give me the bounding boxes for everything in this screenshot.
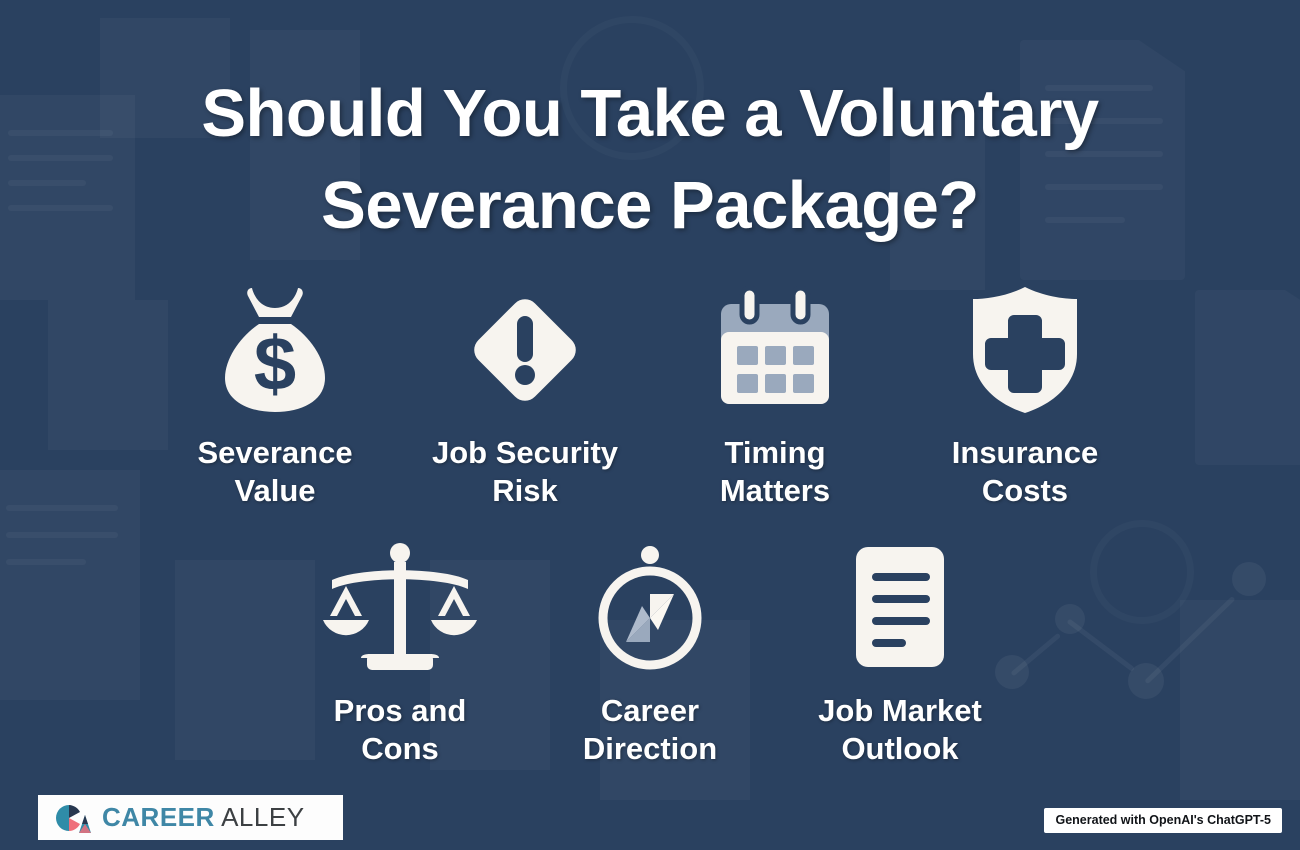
title-line-1: Should You Take a Voluntary	[0, 68, 1300, 160]
logo-word-alley: ALLEY	[215, 802, 305, 832]
topic-row-second: Pros and Cons Career Direction	[0, 538, 1300, 768]
topic-label-line1: Job Market	[818, 692, 982, 730]
career-alley-logo[interactable]: CAREER ALLEY	[38, 795, 343, 840]
topic-item-job-security-risk[interactable]: Job Security Risk	[400, 280, 650, 510]
topic-row-first: $ Severance Value Job Security Risk	[0, 280, 1300, 510]
title-line-2: Severance Package?	[0, 160, 1300, 252]
topic-label-line1: Timing	[720, 434, 830, 472]
topic-label-line2: Value	[197, 472, 352, 510]
svg-text:$: $	[254, 322, 296, 407]
document-lines-icon	[852, 538, 948, 678]
topic-label-line1: Severance	[197, 434, 352, 472]
topic-label-line1: Career	[583, 692, 717, 730]
topic-label-line2: Cons	[334, 730, 467, 768]
topic-label-line2: Outlook	[818, 730, 982, 768]
logo-word-career: CAREER	[102, 802, 215, 832]
topic-item-job-market-outlook[interactable]: Job Market Outlook	[775, 538, 1025, 768]
topic-label: Career Direction	[583, 692, 717, 768]
topic-item-insurance-costs[interactable]: Insurance Costs	[900, 280, 1150, 510]
topic-item-pros-and-cons[interactable]: Pros and Cons	[275, 538, 525, 768]
topic-label-line2: Costs	[952, 472, 1098, 510]
topic-item-timing-matters[interactable]: Timing Matters	[650, 280, 900, 510]
topic-label-line2: Risk	[432, 472, 618, 510]
topic-label: Timing Matters	[720, 434, 830, 510]
generated-with-badge: Generated with OpenAI's ChatGPT-5	[1044, 808, 1282, 833]
balance-scales-icon	[320, 538, 480, 678]
topic-label-line2: Matters	[720, 472, 830, 510]
topic-label-line1: Pros and	[334, 692, 467, 730]
career-alley-mark-icon	[52, 802, 94, 834]
infographic-canvas: Should You Take a Voluntary Severance Pa…	[0, 0, 1300, 850]
topic-label: Insurance Costs	[952, 434, 1098, 510]
topic-item-severance-value[interactable]: $ Severance Value	[150, 280, 400, 510]
page-title: Should You Take a Voluntary Severance Pa…	[0, 68, 1300, 252]
topic-label-line1: Job Security	[432, 434, 618, 472]
compass-icon	[588, 538, 712, 678]
topic-label: Job Market Outlook	[818, 692, 982, 768]
topic-label-line1: Insurance	[952, 434, 1098, 472]
topic-label: Job Security Risk	[432, 434, 618, 510]
calendar-icon	[713, 280, 837, 420]
logo-wordmark: CAREER ALLEY	[102, 802, 305, 833]
money-bag-icon: $	[219, 280, 331, 420]
shield-cross-icon	[967, 280, 1083, 420]
topic-label: Severance Value	[197, 434, 352, 510]
topic-label-line2: Direction	[583, 730, 717, 768]
topic-label: Pros and Cons	[334, 692, 467, 768]
warning-diamond-icon	[461, 280, 589, 420]
topic-item-career-direction[interactable]: Career Direction	[525, 538, 775, 768]
